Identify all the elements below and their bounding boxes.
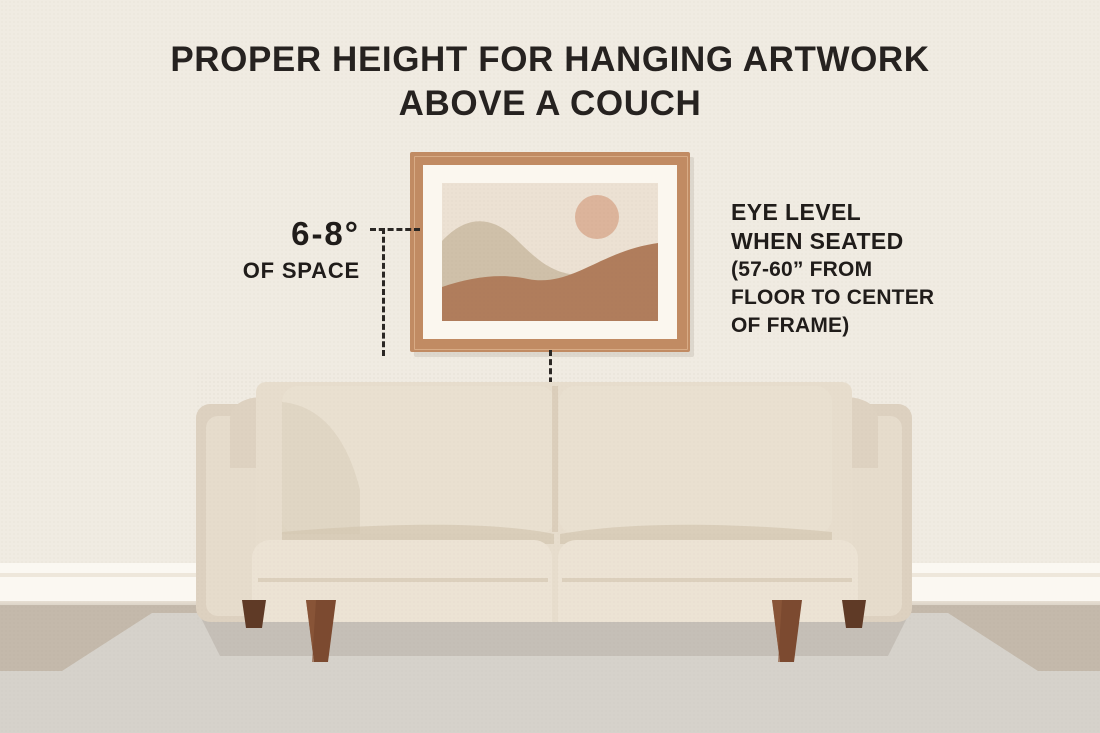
title-line-2: ABOVE A COUCH	[0, 82, 1100, 126]
spacing-measure: 6-8°	[160, 216, 360, 252]
eye-level-line-2: WHEN SEATED	[731, 227, 1051, 256]
eye-level-line-3: (57-60” FROM	[731, 256, 1051, 284]
rear-leg-left	[242, 600, 266, 628]
title-line-1: PROPER HEIGHT FOR HANGING ARTWORK	[0, 38, 1100, 82]
couch	[196, 372, 912, 622]
spacing-leader-horizontal	[370, 228, 420, 231]
spacing-caption: OF SPACE	[160, 256, 360, 286]
eye-level-annotation: EYE LEVEL WHEN SEATED (57-60” FROM FLOOR…	[731, 198, 1051, 340]
spacing-annotation: 6-8° OF SPACE	[160, 216, 360, 286]
eye-level-line-5: OF FRAME)	[731, 312, 1051, 340]
eye-level-line-4: FLOOR TO CENTER	[731, 284, 1051, 312]
eye-level-line-1: EYE LEVEL	[731, 198, 1051, 227]
couch-legs	[196, 600, 912, 680]
page-title: PROPER HEIGHT FOR HANGING ARTWORK ABOVE …	[0, 38, 1100, 126]
picture-frame	[410, 152, 690, 352]
rear-leg-right	[842, 600, 866, 628]
artwork-landscape	[442, 183, 658, 321]
framed-artwork	[410, 152, 690, 352]
spacing-leader-vertical	[382, 228, 385, 356]
illustration-scene: PROPER HEIGHT FOR HANGING ARTWORK ABOVE …	[0, 0, 1100, 733]
